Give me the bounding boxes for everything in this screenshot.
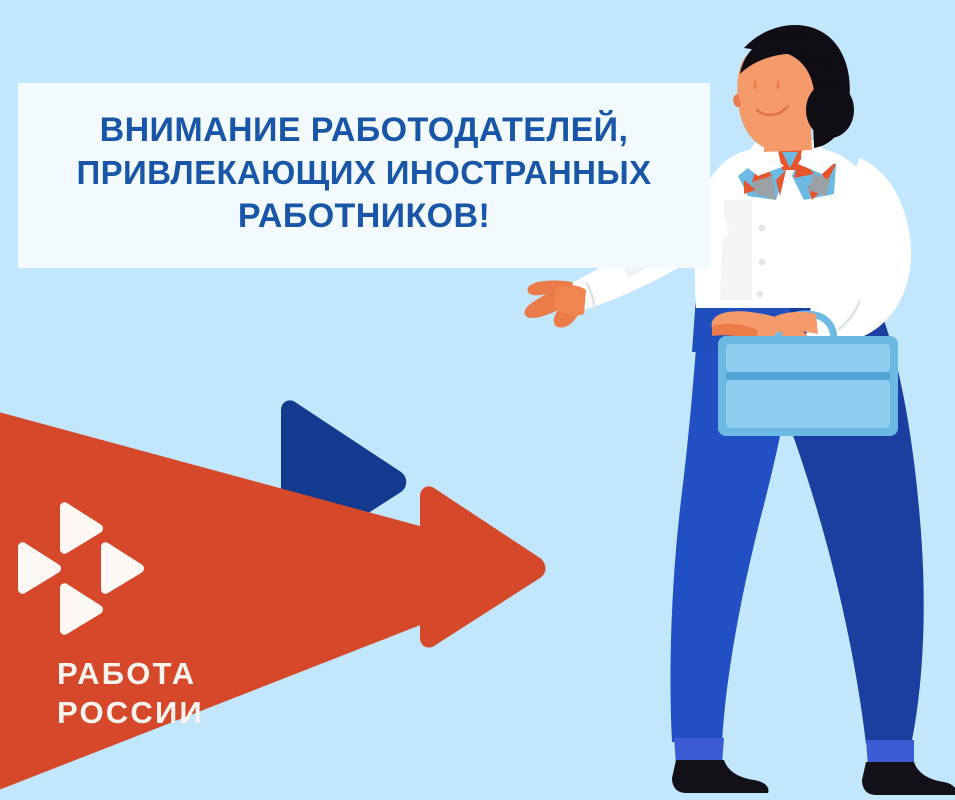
headline-line-1: ВНИМАНИЕ РАБОТОДАТЕЛЕЙ, xyxy=(100,109,629,153)
logo-wordmark-line-2: РОССИИ xyxy=(57,694,287,733)
poster-canvas: РАБОТА РОССИИ ВНИМАНИЕ РАБОТОДАТЕЛЕЙ, ПР… xyxy=(0,0,955,800)
logo-wordmark: РАБОТА РОССИИ xyxy=(57,655,287,733)
headline-line-3: РАБОТНИКОВ! xyxy=(238,195,490,239)
headline-banner: ВНИМАНИЕ РАБОТОДАТЕЛЕЙ, ПРИВЛЕКАЮЩИХ ИНО… xyxy=(18,83,710,268)
headline-line-2: ПРИВЛЕКАЮЩИХ ИНОСТРАННЫХ xyxy=(76,152,651,194)
logo-wordmark-line-1: РАБОТА xyxy=(57,655,287,694)
